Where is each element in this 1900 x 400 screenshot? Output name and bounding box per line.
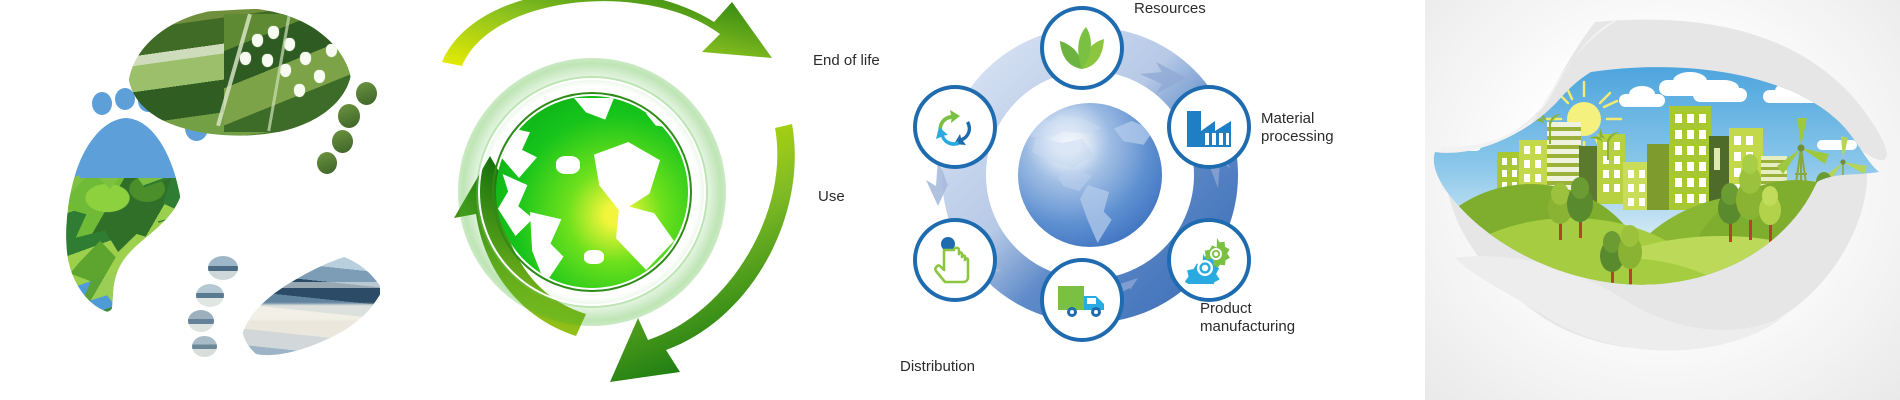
panel-carbon-footprint-collage xyxy=(0,0,380,400)
panel-product-lifecycle: Resources Material processing xyxy=(800,0,1425,400)
window xyxy=(1687,178,1694,187)
lifecycle-label-resources: Resources xyxy=(1134,0,1206,18)
globe-earth xyxy=(496,96,688,288)
window xyxy=(1614,184,1620,192)
window xyxy=(1675,146,1682,155)
window xyxy=(1699,178,1706,187)
window xyxy=(1699,162,1706,171)
lifecycle-node-end-of-life[interactable] xyxy=(913,85,997,169)
footprint-toe xyxy=(188,310,214,332)
window xyxy=(1628,170,1634,178)
window xyxy=(1603,184,1609,192)
window xyxy=(1746,136,1753,145)
window xyxy=(1512,170,1517,177)
window xyxy=(1675,130,1682,139)
footprint-toe xyxy=(356,82,377,105)
window xyxy=(1639,184,1645,192)
window xyxy=(1734,168,1741,177)
window xyxy=(1535,160,1541,168)
window xyxy=(1614,142,1620,150)
lifecycle-node-use[interactable] xyxy=(913,218,997,302)
window xyxy=(1512,158,1517,165)
panel-green-earth-cycle xyxy=(380,0,800,400)
leaves-icon xyxy=(1057,25,1107,71)
window xyxy=(1675,194,1682,203)
window xyxy=(1603,156,1609,164)
window xyxy=(1675,114,1682,123)
window xyxy=(1687,194,1694,203)
footprint-toe xyxy=(338,104,360,128)
gears-icon xyxy=(1183,236,1235,284)
window xyxy=(1675,162,1682,171)
window xyxy=(1746,168,1753,177)
window xyxy=(1746,152,1753,161)
footprint-toe xyxy=(332,130,353,153)
window xyxy=(1603,170,1609,178)
lifecycle-label-product-manufacturing: Product manufacturing xyxy=(1200,300,1295,336)
window xyxy=(1628,198,1634,206)
lifecycle-center-globe xyxy=(1018,103,1162,247)
lifecycle-label-use: Use xyxy=(818,188,845,206)
window xyxy=(1614,156,1620,164)
eco-banner-strip: Resources Material processing xyxy=(0,0,1900,400)
window xyxy=(1535,174,1541,182)
window xyxy=(1675,178,1682,187)
window xyxy=(1639,170,1645,178)
window xyxy=(1734,136,1741,145)
window xyxy=(1639,198,1645,206)
window xyxy=(1502,158,1507,165)
footprint-sole xyxy=(242,252,380,372)
window xyxy=(1687,146,1694,155)
window xyxy=(1603,142,1609,150)
footprint-toe xyxy=(92,92,112,115)
factory-icon xyxy=(1185,105,1233,149)
building xyxy=(1647,144,1669,210)
footprint-toe xyxy=(192,336,217,357)
footprint-toe xyxy=(196,284,224,307)
window xyxy=(1687,114,1694,123)
window xyxy=(1699,130,1706,139)
footprint-toe xyxy=(208,256,238,280)
footprint-toe xyxy=(317,152,337,174)
window xyxy=(1714,148,1720,170)
delivery-truck-icon xyxy=(1056,282,1108,318)
lifecycle-node-resources[interactable] xyxy=(1040,6,1124,90)
recycle-arrows-icon xyxy=(929,103,981,151)
window xyxy=(1535,146,1541,154)
window xyxy=(1524,146,1530,154)
lifecycle-label-end-of-life: End of life xyxy=(813,52,880,70)
window xyxy=(1524,160,1530,168)
window xyxy=(1524,174,1530,182)
footprint-sole xyxy=(128,8,352,140)
green-globe xyxy=(472,72,712,312)
lifecycle-label-distribution: Distribution xyxy=(900,358,975,376)
window xyxy=(1628,184,1634,192)
lifecycle-node-distribution[interactable] xyxy=(1040,258,1124,342)
lifecycle-node-material-processing[interactable] xyxy=(1167,85,1251,169)
window xyxy=(1734,152,1741,161)
cloud xyxy=(1709,80,1739,96)
window xyxy=(1687,130,1694,139)
window xyxy=(1502,170,1507,177)
window xyxy=(1687,162,1694,171)
window xyxy=(1699,146,1706,155)
lifecycle-node-product-manufacturing[interactable] xyxy=(1167,218,1251,302)
panel-eco-city-leaf xyxy=(1425,0,1900,400)
lifecycle-label-material-processing: Material processing xyxy=(1261,110,1334,146)
hand-pointer-icon xyxy=(932,236,978,284)
window xyxy=(1699,114,1706,123)
footprint-green-lily xyxy=(128,4,378,194)
building xyxy=(1623,162,1649,210)
cloud xyxy=(1629,86,1655,102)
building xyxy=(1597,134,1625,204)
window xyxy=(1614,170,1620,178)
window xyxy=(1734,184,1741,193)
footprint-beach-water xyxy=(186,238,380,398)
